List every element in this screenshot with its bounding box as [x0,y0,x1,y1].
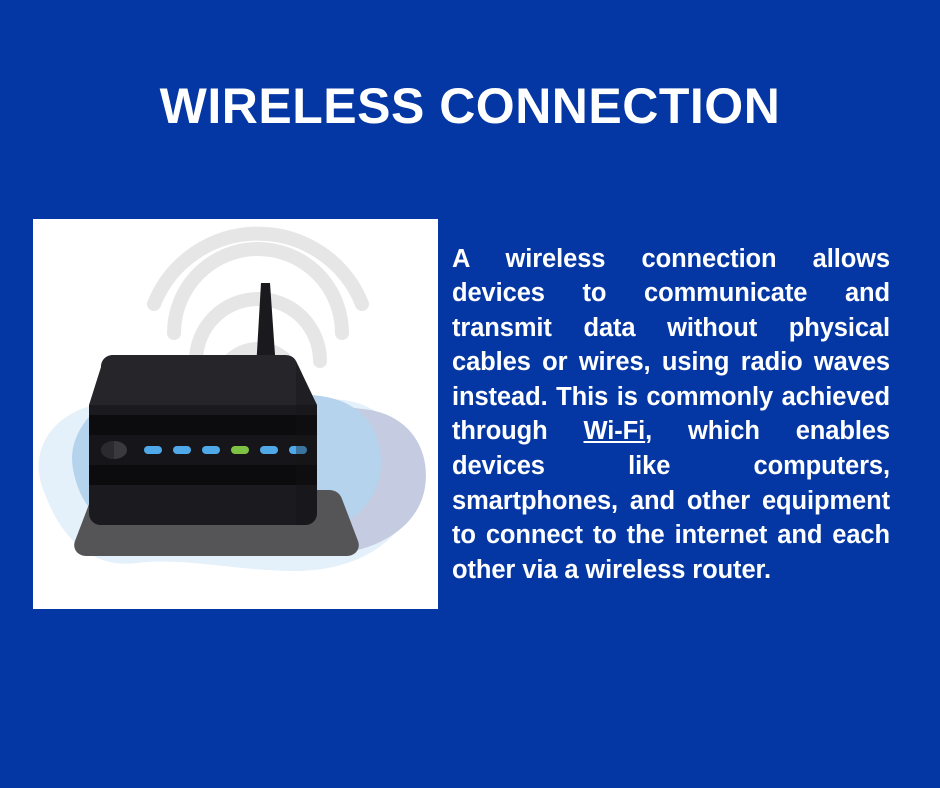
led-3 [202,446,220,454]
router-vent-band-top [89,415,317,435]
led-5 [260,446,278,454]
router-illustration-panel [33,219,438,609]
router-side-face [296,361,317,525]
body-text-part-1: A wireless connection allows devices to … [452,245,890,446]
router-vent-band-bottom [89,465,317,485]
page-title: WIRELESS CONNECTION [0,76,940,136]
wifi-arc-3 [174,249,342,333]
body-paragraph: A wireless connection allows devices to … [452,242,890,588]
led-4 [231,446,249,454]
led-1 [144,446,162,454]
router-illustration-svg [33,219,438,609]
slide-canvas: WIRELESS CONNECTION [0,0,940,788]
wifi-term: Wi-Fi [584,417,646,445]
router-top-surface [89,355,317,405]
led-2 [173,446,191,454]
